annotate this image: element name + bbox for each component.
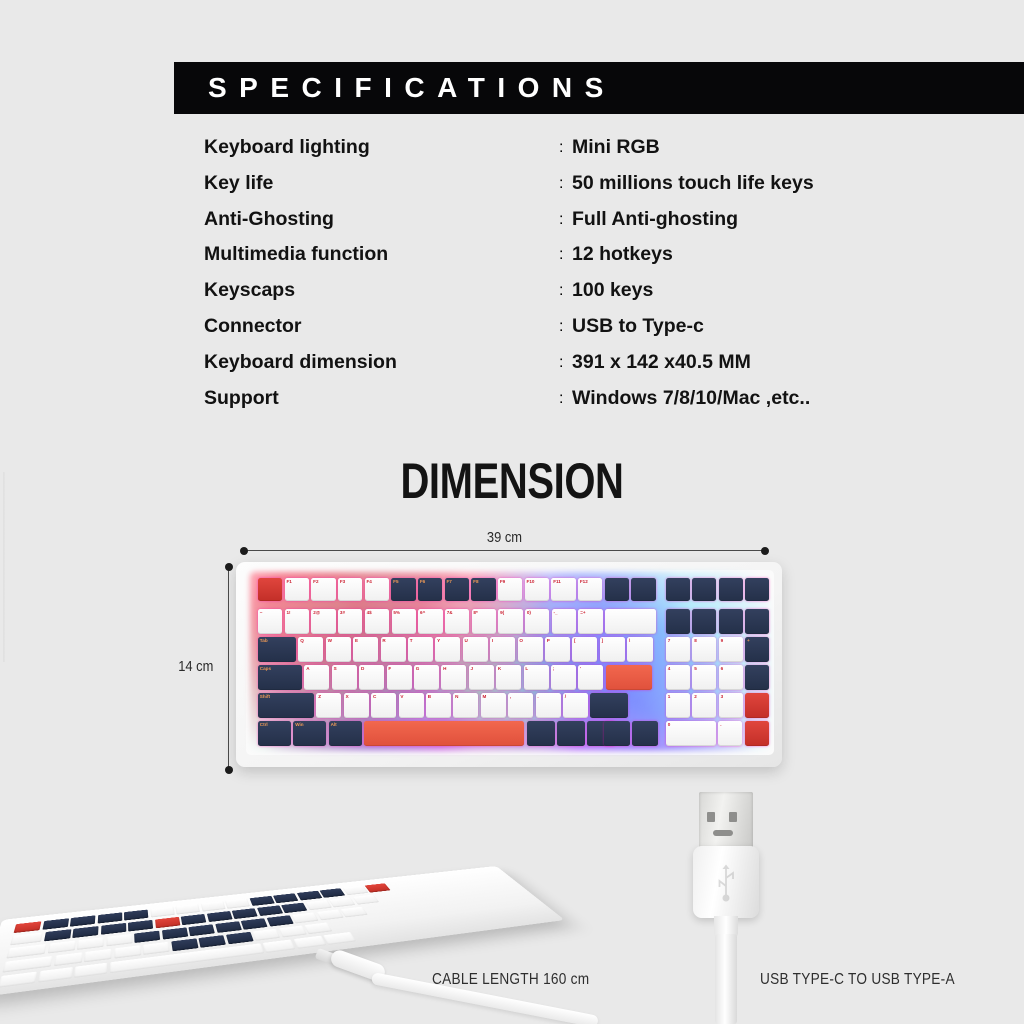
product-spec-sheet: SPECIFICATIONS Keyboard lighting:Mini RG… bbox=[0, 0, 1024, 1024]
spec-value: 100 keys bbox=[572, 273, 653, 309]
spec-row: Support:Windows 7/8/10/Mac ,etc.. bbox=[204, 381, 994, 417]
usb-a-contact-slot bbox=[729, 812, 737, 822]
keyboard-number-row: ~ 1! 2@ 3# 4$ 5% 6^ 7& 8* 9( 0) -_ =+ bbox=[258, 609, 658, 634]
keyboard-numpad-row1: 7 8 9 + bbox=[666, 637, 774, 662]
keyboard-numpad-row3: 1 2 3 bbox=[666, 693, 774, 718]
usb-a-contact-slot bbox=[707, 812, 715, 822]
spec-value: Windows 7/8/10/Mac ,etc.. bbox=[572, 381, 810, 417]
spec-label: Multimedia function bbox=[204, 237, 559, 273]
keyboard-home-row: Caps A S D F G H J K L ; ' bbox=[258, 665, 658, 690]
spec-value: Full Anti-ghosting bbox=[572, 202, 738, 238]
spec-separator: : bbox=[559, 309, 572, 345]
spec-label: Key life bbox=[204, 166, 559, 202]
cable-length-caption: CABLE LENGTH 160 cm bbox=[432, 971, 589, 989]
spec-separator: : bbox=[559, 273, 572, 309]
dimension-heading: DIMENSION bbox=[102, 452, 921, 510]
keyboard-bottom-row: Ctrl Win Alt bbox=[258, 721, 658, 746]
height-measure-label: 14 cm bbox=[157, 658, 214, 675]
measure-endpoint-dot bbox=[225, 563, 233, 571]
keyboard-top-view-image: F1 F2 F3 F4 F5 F6 F7 F8 F9 F10 F11 F12 ~… bbox=[236, 562, 782, 767]
keyboard-angled-view-image bbox=[0, 795, 660, 995]
keyboard-function-row: F1 F2 F3 F4 F5 F6 F7 F8 F9 F10 F11 F12 bbox=[258, 578, 658, 601]
spec-row: Anti-Ghosting:Full Anti-ghosting bbox=[204, 202, 994, 238]
usb-a-metal-shell bbox=[699, 792, 753, 848]
spec-label: Anti-Ghosting bbox=[204, 202, 559, 238]
spec-label: Keyboard dimension bbox=[204, 345, 559, 381]
measure-endpoint-dot bbox=[225, 766, 233, 774]
keyboard-numpad-row4: 0 . bbox=[666, 721, 774, 746]
spec-row: Keyboard dimension:391 x 142 x40.5 MM bbox=[204, 345, 994, 381]
spec-separator: : bbox=[559, 237, 572, 273]
specifications-list: Keyboard lighting:Mini RGB Key life:50 m… bbox=[204, 130, 994, 416]
spec-label: Keyboard lighting bbox=[204, 130, 559, 166]
width-measure-line bbox=[244, 550, 765, 551]
spec-label: Connector bbox=[204, 309, 559, 345]
adjacent-photo-seam bbox=[3, 472, 5, 662]
keyboard-nav-cluster-row1 bbox=[666, 609, 774, 634]
keyboard-qwerty-row: Tab Q W E R T Y U I O P [ ] \ bbox=[258, 637, 658, 662]
measure-endpoint-dot bbox=[761, 547, 769, 555]
spec-value: 391 x 142 x40.5 MM bbox=[572, 345, 751, 381]
spec-label: Support bbox=[204, 381, 559, 417]
spec-separator: : bbox=[559, 345, 572, 381]
usb-trident-icon bbox=[713, 862, 739, 904]
spec-separator: : bbox=[559, 166, 572, 202]
spec-value: Mini RGB bbox=[572, 130, 660, 166]
spec-separator: : bbox=[559, 202, 572, 238]
spec-value: USB to Type-c bbox=[572, 309, 704, 345]
page-title: SPECIFICATIONS bbox=[208, 72, 616, 104]
width-measure-label: 39 cm bbox=[280, 529, 728, 546]
keyboard-function-row-right bbox=[666, 578, 774, 601]
spec-separator: : bbox=[559, 130, 572, 166]
spec-label: Keyscaps bbox=[204, 273, 559, 309]
spec-value: 50 millions touch life keys bbox=[572, 166, 814, 202]
keyboard-shift-row: Shift Z X C V B N M , . / bbox=[258, 693, 658, 718]
height-measure-line bbox=[228, 567, 229, 770]
spec-row: Key life:50 millions touch life keys bbox=[204, 166, 994, 202]
usb-a-contact-slot bbox=[713, 830, 733, 836]
specifications-header-bar: SPECIFICATIONS bbox=[174, 62, 1024, 114]
spec-row: Multimedia function:12 hotkeys bbox=[204, 237, 994, 273]
measure-endpoint-dot bbox=[240, 547, 248, 555]
spec-value: 12 hotkeys bbox=[572, 237, 673, 273]
keyboard-numpad-row2: 4 5 6 bbox=[666, 665, 774, 690]
spec-row: Keyboard lighting:Mini RGB bbox=[204, 130, 994, 166]
spec-separator: : bbox=[559, 381, 572, 417]
usb-type-caption: USB TYPE-C TO USB TYPE-A bbox=[760, 971, 955, 989]
usb-a-cable-wire bbox=[715, 934, 737, 1024]
keyboard-arrow-cluster bbox=[604, 721, 662, 746]
spec-row: Connector:USB to Type-c bbox=[204, 309, 994, 345]
spec-row: Keyscaps:100 keys bbox=[204, 273, 994, 309]
